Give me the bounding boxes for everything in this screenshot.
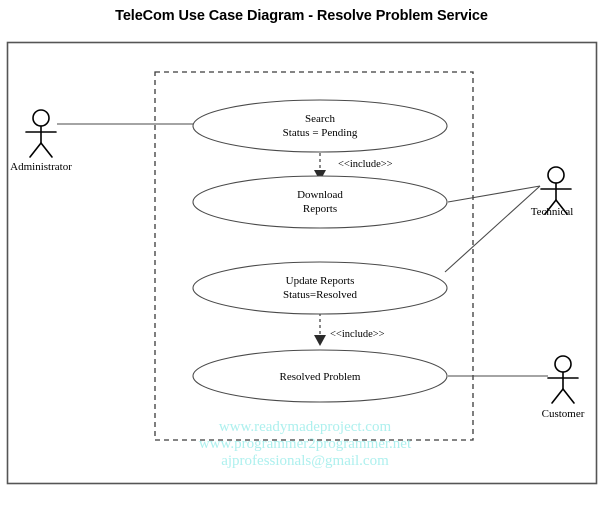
use-case-resolved-problem-label-line1: Resolved Problem xyxy=(280,371,361,383)
stereotype-include-1: <<include>> xyxy=(338,159,393,170)
use-case-update-reports-label-line2: Status=Resolved xyxy=(283,289,358,301)
actor-customer[interactable]: Customer xyxy=(542,356,585,420)
use-case-search-label-line2: Status = Pending xyxy=(283,127,358,139)
use-case-download-reports-label-line1: Download xyxy=(297,189,343,201)
diagram-canvas: <<include>> <<include>> Search Status = … xyxy=(0,0,603,513)
use-case-search[interactable]: Search Status = Pending xyxy=(193,100,447,152)
watermark-line-1: www.readymadeproject.com xyxy=(219,419,392,435)
use-case-download-reports[interactable]: Download Reports xyxy=(193,176,447,228)
stereotype-include-2: <<include>> xyxy=(330,329,385,340)
actor-customer-label: Customer xyxy=(542,408,585,420)
watermark-line-2: www.programmer2programmer.net xyxy=(199,436,412,452)
watermark-line-3: ajprofessionals@gmail.com xyxy=(221,453,389,469)
use-case-search-label-line1: Search xyxy=(305,113,335,125)
actor-administrator[interactable]: Administrator xyxy=(10,110,72,173)
actor-technical-label: Technical xyxy=(531,206,574,218)
use-case-update-reports[interactable]: Update Reports Status=Resolved xyxy=(193,262,447,314)
association-download-technical xyxy=(448,186,540,202)
use-case-resolved-problem[interactable]: Resolved Problem xyxy=(193,350,447,402)
actor-technical[interactable]: Technical xyxy=(531,167,574,218)
actor-administrator-label: Administrator xyxy=(10,161,72,173)
association-update-technical xyxy=(445,186,540,272)
use-case-diagram-page: TeleCom Use Case Diagram - Resolve Probl… xyxy=(0,0,603,513)
use-case-download-reports-label-line2: Reports xyxy=(303,203,337,215)
include-arrow-update-resolved xyxy=(314,313,326,346)
use-case-update-reports-label-line1: Update Reports xyxy=(286,275,355,287)
